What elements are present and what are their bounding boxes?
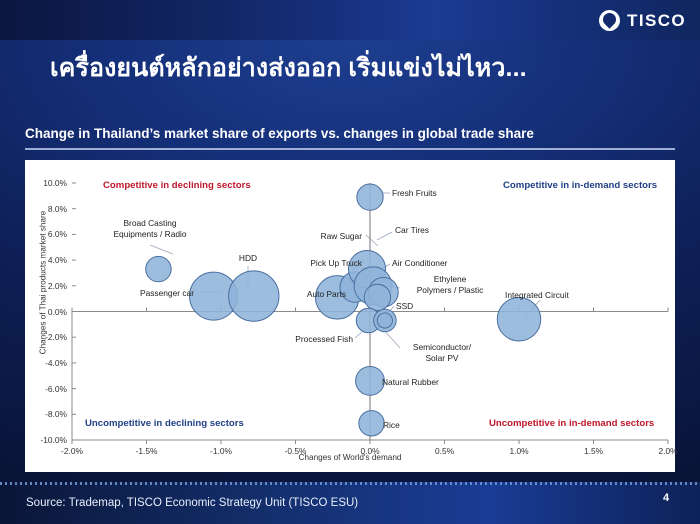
bubble-label: Air Conditioner xyxy=(392,258,472,269)
bubble-label: HDD xyxy=(228,253,268,264)
logo-text: TISCO xyxy=(627,11,686,31)
bubble-label: Processed Fish xyxy=(285,334,353,345)
leader-line xyxy=(366,235,378,246)
source-note: Source: Trademap, TISCO Economic Strateg… xyxy=(26,497,358,509)
x-axis-tick: 2.0% xyxy=(645,446,691,456)
y-axis-tick: 10.0% xyxy=(27,178,67,188)
page-number: 4 xyxy=(656,492,676,504)
x-axis-tick: 0.5% xyxy=(422,446,468,456)
tisco-logo: TISCO xyxy=(599,10,686,31)
top-bar: TISCO xyxy=(0,0,700,40)
bubble-ethylene-polymers-plastic[interactable] xyxy=(364,284,390,310)
chart-heading: Change in Thailand’s market share of exp… xyxy=(25,126,675,141)
heading-underline xyxy=(25,148,675,150)
quadrant-label-bottom-left: Uncompetitive in declining sectors xyxy=(85,418,244,429)
x-axis-tick: 1.5% xyxy=(571,446,617,456)
bubble-label: Pick Up Truck xyxy=(296,258,362,269)
x-axis-tick: 0.0% xyxy=(347,446,393,456)
bubble-label: EthylenePolymers / Plastic xyxy=(404,274,496,296)
y-axis-tick: 4.0% xyxy=(27,255,67,265)
bubble-label: Car Tires xyxy=(395,225,449,236)
bubble-label: Fresh Fruits xyxy=(392,188,454,199)
leader-line xyxy=(377,232,392,240)
y-axis-tick: -4.0% xyxy=(27,358,67,368)
x-axis-tick: -1.0% xyxy=(198,446,244,456)
bubble-label: Natural Rubber xyxy=(382,377,456,388)
quadrant-label-bottom-right: Uncompetitive in in-demand sectors xyxy=(489,418,654,429)
quadrant-label-top-right: Competitive in in-demand sectors xyxy=(503,180,657,191)
y-axis-tick: 6.0% xyxy=(27,229,67,239)
y-axis-tick: -6.0% xyxy=(27,384,67,394)
bubble-integrated-circuit[interactable] xyxy=(497,297,540,340)
bubble-label: Semiconductor/Solar PV xyxy=(404,342,480,364)
quadrant-label-top-left: Competitive in declining sectors xyxy=(103,180,251,191)
y-axis-tick: 2.0% xyxy=(27,281,67,291)
chart-panel: Changes of Thai products market share Ch… xyxy=(25,160,675,472)
y-axis-tick: -2.0% xyxy=(27,332,67,342)
leader-line xyxy=(150,245,173,254)
y-axis-tick: 0.0% xyxy=(27,307,67,317)
bubble-natural-rubber[interactable] xyxy=(356,366,385,395)
slide: TISCO เครื่องยนต์หลักอย่างส่งออก เริ่มแข… xyxy=(0,0,700,524)
bubble-label: Raw Sugar xyxy=(300,231,362,242)
bubble-label: Integrated Circuit xyxy=(505,290,591,301)
x-axis-tick: 1.0% xyxy=(496,446,542,456)
y-axis-tick: 8.0% xyxy=(27,204,67,214)
bubble-label: Broad CastingEquipments / Radio xyxy=(95,218,205,240)
bubble-hdd[interactable] xyxy=(229,271,279,321)
slide-headline: เครื่องยนต์หลักอย่างส่งออก เริ่มแข่งไม่ไ… xyxy=(50,48,650,88)
leader-line xyxy=(384,330,400,348)
bubble-broad-casting-equipments-radio[interactable] xyxy=(146,256,171,281)
y-axis-tick: -8.0% xyxy=(27,409,67,419)
bubble-rice[interactable] xyxy=(359,411,384,436)
tisco-circle-logo-icon xyxy=(599,10,620,31)
x-axis-tick: -2.0% xyxy=(49,446,95,456)
bubble-semiconductor-solar-pv[interactable] xyxy=(377,313,392,328)
bubble-fresh-fruits[interactable] xyxy=(357,184,383,210)
x-axis-tick: -0.5% xyxy=(273,446,319,456)
bubble-label: Rice xyxy=(383,420,413,431)
y-axis-tick: -10.0% xyxy=(27,435,67,445)
bubble-label: Auto Parts xyxy=(286,289,346,300)
x-axis-tick: -1.5% xyxy=(124,446,170,456)
bubble-label: SSD xyxy=(396,301,426,312)
bubble-label: Passenger car xyxy=(110,288,194,299)
